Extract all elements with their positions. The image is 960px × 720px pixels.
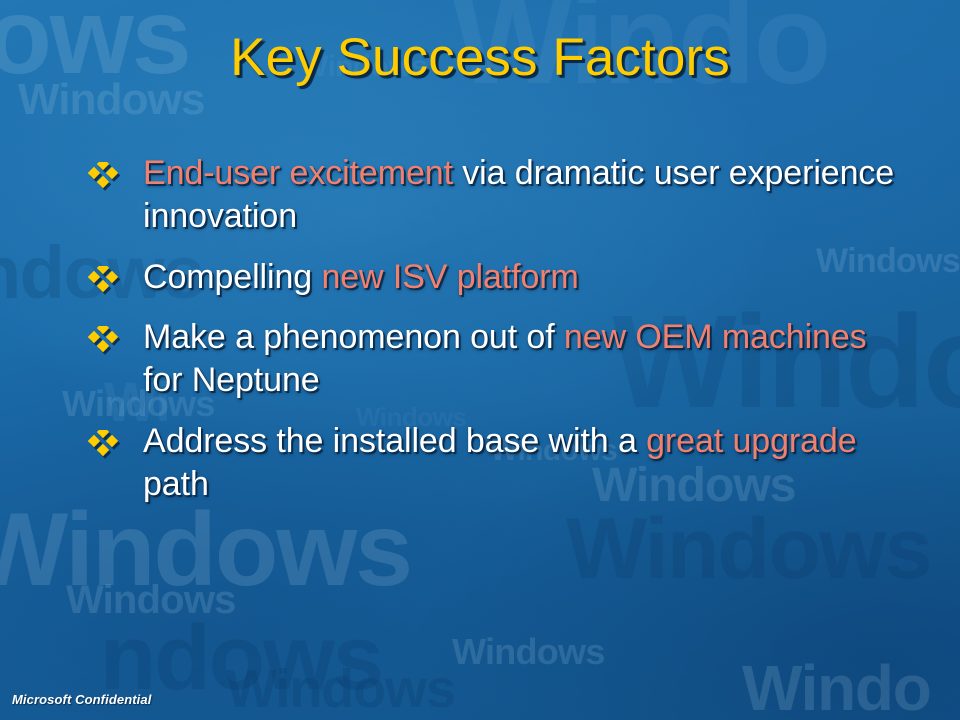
watermark-text: Windo (742, 656, 931, 720)
bullet-text-highlight: new OEM machines (564, 318, 867, 356)
bullet-text-highlight: End-user excitement (143, 154, 453, 192)
bullet-text-plain: Address the installed base with a (143, 422, 646, 460)
watermark-text: Windows (452, 634, 605, 670)
bullet-text-highlight: great upgrade (646, 422, 856, 460)
bullet-text: Make a phenomenon out of new OEM machine… (143, 316, 898, 402)
bullet-isv-platform: Compelling new ISV platform (88, 256, 898, 299)
watermark-text: Windows (226, 662, 455, 716)
bullet-end-user-excitement: End-user excitement via dramatic user ex… (88, 152, 898, 238)
watermark-text: Windows (566, 506, 931, 592)
diamond-cluster-bullet-icon (88, 316, 143, 356)
bullet-list: End-user excitement via dramatic user ex… (88, 152, 898, 506)
diamond-cluster-bullet-icon (88, 420, 143, 460)
bullet-text-plain: Make a phenomenon out of (143, 318, 564, 356)
bullet-text: Compelling new ISV platform (143, 256, 898, 299)
presentation-slide: owsWindoWindowsWindowsndowsWindowsWindoW… (0, 0, 960, 720)
bullet-upgrade-path: Address the installed base with a great … (88, 420, 898, 506)
watermark-text: Windows (66, 580, 236, 620)
bullet-text-plain: Compelling (143, 258, 321, 296)
diamond-cluster-bullet-icon (88, 256, 143, 296)
bullet-text-plain: for Neptune (143, 361, 320, 399)
bullet-text: Address the installed base with a great … (143, 420, 898, 506)
bullet-text-highlight: new ISV platform (321, 258, 578, 296)
confidentiality-footer: Microsoft Confidential (12, 692, 151, 707)
bullet-text: End-user excitement via dramatic user ex… (143, 152, 898, 238)
watermark-text: Windows (0, 498, 411, 602)
bullet-oem-machines: Make a phenomenon out of new OEM machine… (88, 316, 898, 402)
bullet-text-plain: path (143, 465, 209, 503)
watermark-text: ndows (100, 612, 382, 704)
diamond-cluster-bullet-icon (88, 152, 143, 192)
slide-title: Key Success Factors (0, 27, 960, 88)
